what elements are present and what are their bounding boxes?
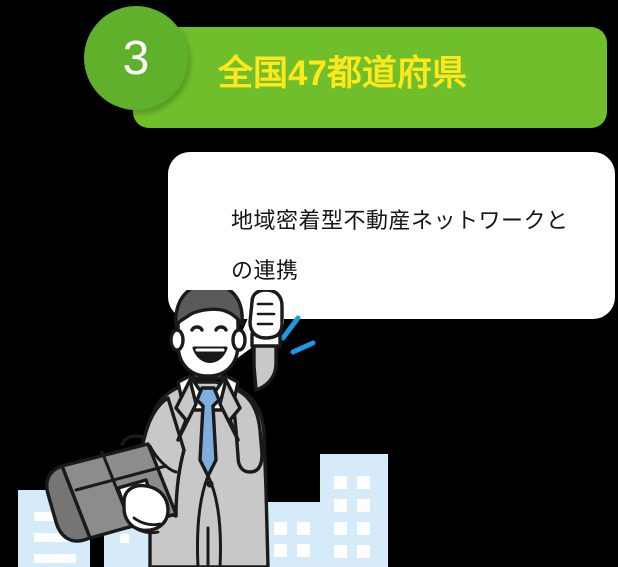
illustration-businessman [0, 290, 618, 567]
speech-bubble-text: 地域密着型不動産ネットワークとの連携 [231, 196, 581, 296]
step-number-label: 3 [84, 6, 188, 110]
page-root: 全国47都道府県 3 地域密着型不動産ネットワークとの連携 [0, 0, 618, 567]
step-number-badge: 3 [84, 6, 188, 110]
businessman-figure [47, 290, 282, 567]
building-right-tall [320, 454, 388, 567]
banner-title: 全国47都道府県 [218, 46, 558, 102]
